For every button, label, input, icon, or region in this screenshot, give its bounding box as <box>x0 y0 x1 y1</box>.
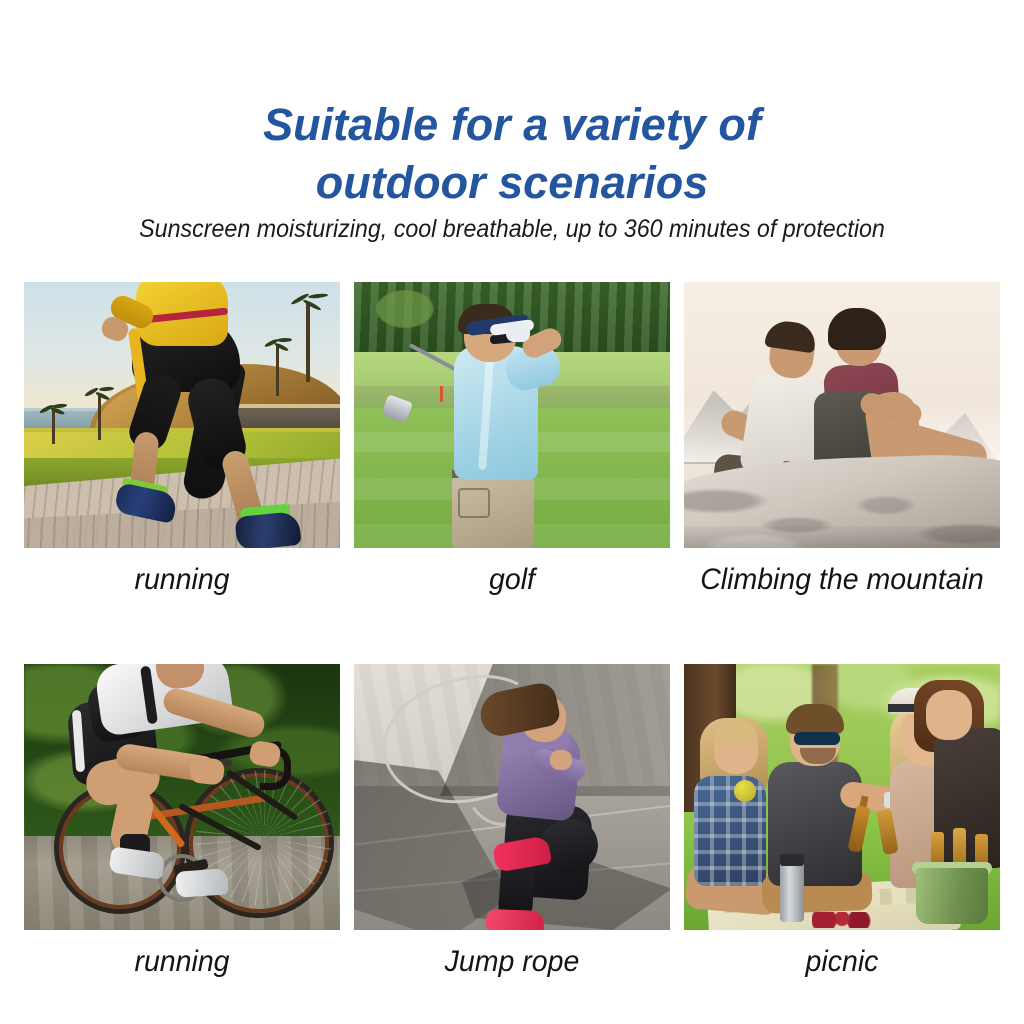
scenario-cell-cycling[interactable]: running <box>24 664 340 983</box>
photo-caption: golf <box>362 559 662 601</box>
photo-jump-rope <box>354 664 670 930</box>
photo-caption: Jump rope <box>362 941 662 983</box>
photo-caption: running <box>32 941 332 983</box>
header-block: Suitable for a variety of outdoor scenar… <box>0 96 1024 212</box>
page-title-line-1: Suitable for a variety of <box>0 96 1024 154</box>
photo-caption: running <box>32 559 332 601</box>
photo-caption: Climbing the mountain <box>692 559 992 601</box>
photo-climbing-the-mountain <box>684 282 1000 548</box>
scenario-cell-golf[interactable]: golf <box>354 282 670 601</box>
promo-banner: Suitable for a variety of outdoor scenar… <box>0 0 1024 1024</box>
scenario-cell-running-boardwalk[interactable]: running <box>24 282 340 601</box>
scenario-gallery: running golf <box>24 282 1000 983</box>
scenario-cell-climbing[interactable]: Climbing the mountain <box>684 282 1000 601</box>
gallery-row: running Jump rope <box>24 664 1000 983</box>
page-title-line-2: outdoor scenarios <box>0 154 1024 212</box>
photo-picnic <box>684 664 1000 930</box>
gallery-row: running golf <box>24 282 1000 601</box>
photo-caption: picnic <box>692 941 992 983</box>
scenario-cell-jump-rope[interactable]: Jump rope <box>354 664 670 983</box>
scenario-cell-picnic[interactable]: picnic <box>684 664 1000 983</box>
photo-running-boardwalk <box>24 282 340 548</box>
photo-golf <box>354 282 670 548</box>
page-subtitle: Sunscreen moisturizing, cool breathable,… <box>36 212 988 246</box>
photo-running-cycling <box>24 664 340 930</box>
